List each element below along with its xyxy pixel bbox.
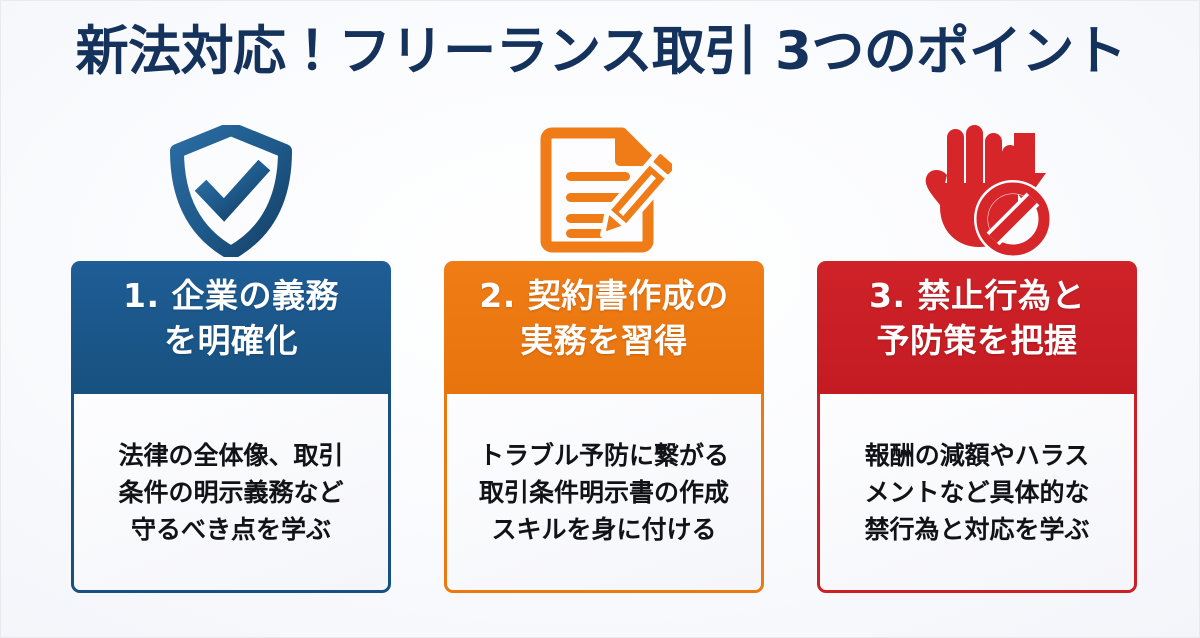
point-card-3-icon-wrap bbox=[817, 123, 1137, 261]
point-card-2-body: トラブル予防に繋がる 取引条件明示書の作成 スキルを身に付ける bbox=[444, 394, 764, 593]
point-card-1-icon-wrap bbox=[71, 123, 391, 261]
point-card-3-heading: 3. 禁止行為と 予防策を把握 bbox=[817, 261, 1137, 394]
point-card-2-body-line3: スキルを身に付ける bbox=[479, 511, 729, 548]
point-card-2-body-line2: 取引条件明示書の作成 bbox=[479, 474, 729, 511]
point-card-1-body-line2: 条件の明示義務など bbox=[118, 474, 343, 511]
point-card-3-body-line1: 報酬の減額やハラス bbox=[864, 437, 1089, 474]
point-card-1-body-line3: 守るべき点を学ぶ bbox=[118, 511, 343, 548]
point-card-1-body-line1: 法律の全体像、取引 bbox=[118, 437, 343, 474]
point-card-1-body: 法律の全体像、取引 条件の明示義務など 守るべき点を学ぶ bbox=[71, 394, 391, 593]
point-card-3-body-line2: メントなど具体的な bbox=[864, 474, 1089, 511]
point-card-3[interactable]: 3. 禁止行為と 予防策を把握 報酬の減額やハラス メントなど具体的な 禁行為と… bbox=[817, 123, 1137, 593]
point-card-2-heading-line1: 2. 契約書作成の bbox=[452, 273, 756, 318]
point-card-3-heading-line1: 3. 禁止行為と bbox=[825, 273, 1129, 318]
infographic-poster: 新法対応！フリーランス取引 3つのポイント bbox=[0, 0, 1200, 638]
point-card-2[interactable]: 2. 契約書作成の 実務を習得 トラブル予防に繋がる 取引条件明示書の作成 スキ… bbox=[444, 123, 764, 593]
shield-check-icon bbox=[167, 125, 295, 257]
page-title: 新法対応！フリーランス取引 3つのポイント bbox=[1, 21, 1200, 83]
point-card-1-heading-line1: 1. 企業の義務 bbox=[79, 273, 383, 318]
point-card-2-icon-wrap bbox=[444, 123, 764, 261]
point-card-1-heading-line2: を明確化 bbox=[79, 318, 383, 363]
stop-hand-prohibition-icon bbox=[902, 123, 1052, 257]
document-pencil-icon bbox=[536, 123, 672, 257]
point-card-3-body-line3: 禁行為と対応を学ぶ bbox=[864, 511, 1089, 548]
point-card-2-heading-line2: 実務を習得 bbox=[452, 318, 756, 363]
point-card-3-heading-line2: 予防策を把握 bbox=[825, 318, 1129, 363]
point-card-3-body: 報酬の減額やハラス メントなど具体的な 禁行為と対応を学ぶ bbox=[817, 394, 1137, 593]
point-card-1-heading: 1. 企業の義務 を明確化 bbox=[71, 261, 391, 394]
point-card-2-body-line1: トラブル予防に繋がる bbox=[479, 437, 729, 474]
point-card-2-heading: 2. 契約書作成の 実務を習得 bbox=[444, 261, 764, 394]
point-card-1[interactable]: 1. 企業の義務 を明確化 法律の全体像、取引 条件の明示義務など 守るべき点を… bbox=[71, 123, 391, 593]
points-card-row: 1. 企業の義務 を明確化 法律の全体像、取引 条件の明示義務など 守るべき点を… bbox=[71, 123, 1137, 593]
